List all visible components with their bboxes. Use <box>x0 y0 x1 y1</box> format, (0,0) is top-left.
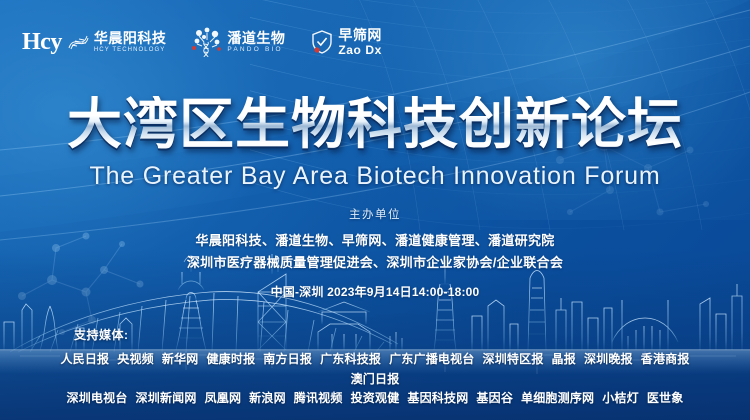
organizer-line-1: 华晨阳科技、潘道生物、早筛网、潘道健康管理、潘道研究院 <box>0 230 750 252</box>
media-outlet: 深圳晚报 <box>584 350 633 369</box>
media-outlet: 南方日报 <box>263 350 312 369</box>
media-outlet: 投资观健 <box>351 389 400 408</box>
media-outlet: 小桔灯 <box>602 389 639 408</box>
pando-name-en: PANDO BIO <box>227 47 285 54</box>
organizer-section: 主办单位 华晨阳科技、潘道生物、早筛网、潘道健康管理、潘道研究院 深圳市医疗器械… <box>0 206 750 300</box>
media-outlet: 新华网 <box>162 350 199 369</box>
logo-zao-dx[interactable]: 早筛网 Zao Dx <box>311 28 382 56</box>
hcy-wordmark: Hcy <box>22 30 62 54</box>
media-outlet: 香港商报 <box>641 350 690 369</box>
media-outlet: 新浪网 <box>249 389 286 408</box>
logo-hcy-technology[interactable]: Hcy 华晨阳科技 HCY TECHNOLOGY <box>22 30 166 54</box>
hcy-name-cn: 华晨阳科技 <box>94 31 167 45</box>
hcy-name-en: HCY TECHNOLOGY <box>94 47 167 53</box>
sponsor-logo-bar: Hcy 华晨阳科技 HCY TECHNOLOGY <box>22 26 382 58</box>
media-caption: 支持媒体: <box>74 326 750 343</box>
media-outlet: 人民日报 <box>60 350 109 369</box>
supporting-media-section: 支持媒体: 人民日报央视频新华网健康时报南方日报广东科技报广东广播电视台深圳特区… <box>0 326 750 408</box>
headline-area: 大湾区生物科技创新论坛 The Greater Bay Area Biotech… <box>0 96 750 191</box>
page-subtitle: The Greater Bay Area Biotech Innovation … <box>0 162 750 191</box>
media-row-2: 深圳电视台深圳新闻网凤凰网新浪网腾讯视频投资观健基因科技网基因谷单细胞测序网小桔… <box>0 389 750 408</box>
media-row-1: 人民日报央视频新华网健康时报南方日报广东科技报广东广播电视台深圳特区报晶报深圳晚… <box>0 350 750 388</box>
zao-name-block: 早筛网 Zao Dx <box>338 28 382 56</box>
media-outlet: 广东广播电视台 <box>389 350 474 369</box>
media-outlet: 腾讯视频 <box>294 389 343 408</box>
media-outlet: 深圳新闻网 <box>136 389 197 408</box>
media-outlet: 澳门日报 <box>351 370 400 389</box>
molecule-tree-icon <box>192 26 222 58</box>
media-outlet: 单细胞测序网 <box>521 389 594 408</box>
page-title: 大湾区生物科技创新论坛 <box>67 96 683 154</box>
media-outlet: 基因谷 <box>476 389 513 408</box>
hcy-name-block: 华晨阳科技 HCY TECHNOLOGY <box>94 31 167 54</box>
zao-name-cn: 早筛网 <box>338 28 382 42</box>
media-outlet: 晶报 <box>552 350 576 369</box>
zao-name-en: Zao Dx <box>338 44 382 56</box>
conference-banner: Hcy 华晨阳科技 HCY TECHNOLOGY <box>0 0 750 420</box>
media-outlet: 广东科技报 <box>320 350 381 369</box>
media-outlet: 凤凰网 <box>205 389 242 408</box>
event-datetime: 中国-深圳 2023年9月14日14:00-18:00 <box>0 283 750 300</box>
pando-name-block: 潘道生物 PANDO BIO <box>227 31 285 54</box>
organizer-line-2: 深圳市医疗器械质量管理促进会、深圳市企业家协会/企业联合会 <box>0 252 750 274</box>
media-outlet: 基因科技网 <box>407 389 468 408</box>
logo-pando-bio[interactable]: 潘道生物 PANDO BIO <box>192 26 285 58</box>
media-outlet: 深圳电视台 <box>67 389 128 408</box>
dna-helix-icon <box>67 33 89 51</box>
media-outlet: 医世象 <box>647 389 684 408</box>
pando-name-cn: 潘道生物 <box>227 31 285 45</box>
media-outlet: 深圳特区报 <box>483 350 544 369</box>
shield-icon <box>311 29 333 55</box>
media-outlet: 央视频 <box>117 350 154 369</box>
media-outlet: 健康时报 <box>206 350 255 369</box>
organizer-caption: 主办单位 <box>0 206 750 222</box>
